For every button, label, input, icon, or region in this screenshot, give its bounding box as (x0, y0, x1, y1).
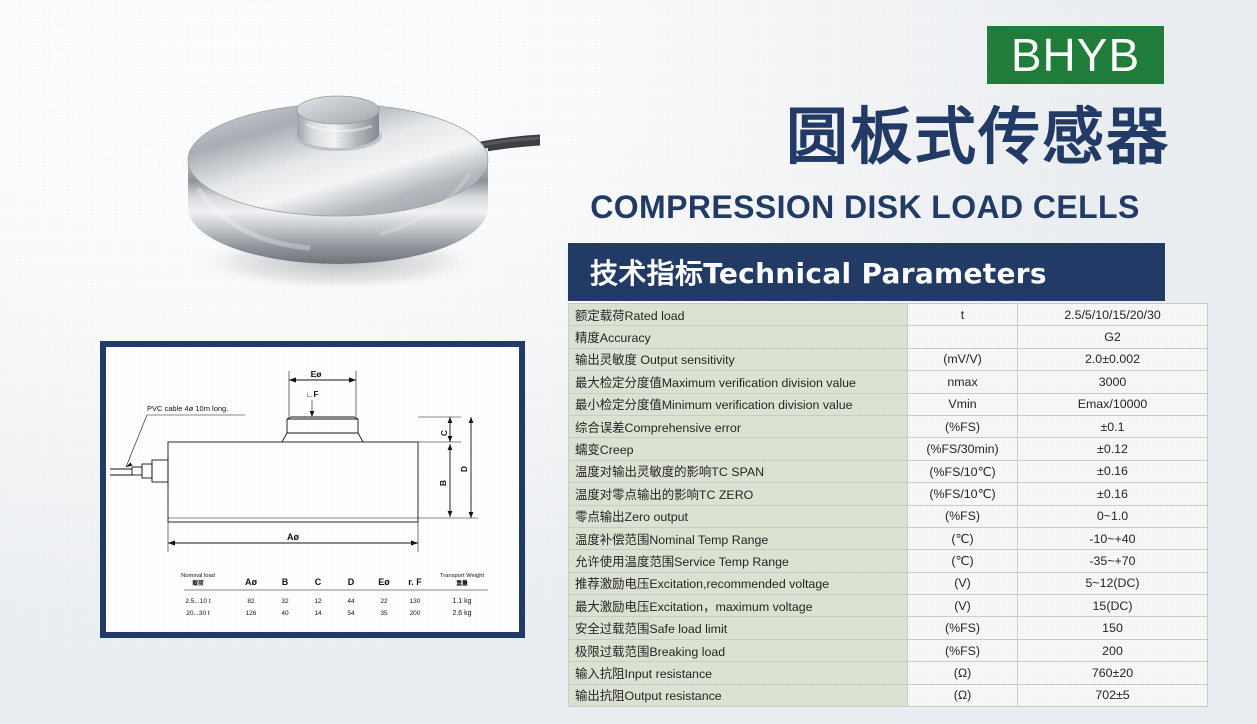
param-value: 3000 (1018, 371, 1208, 393)
param-value: ±0.1 (1018, 415, 1208, 437)
dim-col-load-line2: 载荷 (192, 579, 204, 587)
technical-parameters-table: 额定载荷Rated loadt2.5/5/10/15/20/30精度Accura… (568, 303, 1208, 707)
drawing-boss (282, 417, 363, 442)
param-value: 760±20 (1018, 662, 1208, 684)
param-unit: (℃) (908, 550, 1018, 572)
param-unit (908, 326, 1018, 348)
param-unit: (mV/V) (908, 348, 1018, 370)
param-unit: nmax (908, 371, 1018, 393)
param-name: 输出灵敏度 Output sensitivity (569, 348, 908, 370)
dim-cell-rf: 130 (410, 598, 421, 605)
dim-col-d: D (348, 577, 355, 587)
dim-label-d: D (459, 466, 469, 472)
dim-label-a: Aø (287, 532, 299, 542)
dimension-drawing: Eø ∟F (106, 347, 519, 632)
dim-cell-c: 14 (314, 610, 322, 617)
dim-cell-b: 40 (281, 610, 289, 617)
param-name: 温度对输出灵敏度的影响TC SPAN (569, 460, 908, 482)
table-row: 综合误差Comprehensive error(%FS)±0.1 (569, 415, 1208, 437)
param-unit: (%FS/10℃) (908, 483, 1018, 505)
param-unit: (%FS) (908, 415, 1018, 437)
param-name: 极限过载范围Breaking load (569, 639, 908, 661)
dim-cell-weight: 1.1 kg (452, 598, 471, 605)
param-unit: (%FS) (908, 505, 1018, 527)
table-row: 输出抗阻Output resistance(Ω)702±5 (569, 684, 1208, 706)
loading-boss (294, 96, 382, 151)
dim-cell-weight: 2.6 kg (452, 610, 471, 617)
param-unit: (Ω) (908, 684, 1018, 706)
dimension-table: Nominal load 载荷 Aø B C D Eø r. F Transpo… (181, 573, 488, 617)
dim-col-e: Eø (378, 577, 390, 587)
param-name: 最大激励电压Excitation，maximum voltage (569, 595, 908, 617)
param-unit: Vmin (908, 393, 1018, 415)
dim-a: Aø (168, 522, 418, 552)
param-value: 2.0±0.002 (1018, 348, 1208, 370)
param-value: ±0.12 (1018, 438, 1208, 460)
dim-col-load-line1: Nominal load (181, 573, 215, 579)
param-unit: (%FS/10℃) (908, 460, 1018, 482)
param-value: -35~+70 (1018, 550, 1208, 572)
param-unit: (V) (908, 595, 1018, 617)
dim-col-weight-line1: Transport Weight (440, 573, 485, 579)
param-value: 2.5/5/10/15/20/30 (1018, 304, 1208, 326)
param-value: -10~+40 (1018, 527, 1208, 549)
param-value: 702±5 (1018, 684, 1208, 706)
param-value: 5~12(DC) (1018, 572, 1208, 594)
dim-col-c: C (315, 577, 322, 587)
dim-label-e: Eø (311, 369, 323, 379)
dim-cell-load: 20...30 t (186, 610, 210, 617)
product-title-chinese: 圆板式传感器 (560, 104, 1170, 169)
param-name: 温度对零点输出的影响TC ZERO (569, 483, 908, 505)
table-row: 额定载荷Rated loadt2.5/5/10/15/20/30 (569, 304, 1208, 326)
table-row: 输出灵敏度 Output sensitivity(mV/V)2.0±0.002 (569, 348, 1208, 370)
technical-parameters-header-text: 技术指标Technical Parameters (568, 252, 1047, 292)
table-row: 温度对输出灵敏度的影响TC SPAN(%FS/10℃)±0.16 (569, 460, 1208, 482)
dim-col-weight-line2: 重量 (456, 579, 468, 587)
dim-col-a: Aø (245, 577, 257, 587)
technical-parameters-header: 技术指标Technical Parameters (568, 243, 1165, 301)
dim-cell-e: 35 (380, 610, 388, 617)
dim-table-row: 20...30 t 126 40 14 54 35 200 2.6 kg (186, 610, 471, 617)
table-row: 最大检定分度值Maximum verification division val… (569, 371, 1208, 393)
param-value: 150 (1018, 617, 1208, 639)
product-datasheet-page: BHYB 圆板式传感器 COMPRESSION DISK LOAD CELLS … (0, 0, 1257, 724)
cable-note-text: PVC cable 4ø 10m long. (147, 404, 228, 413)
dim-cell-c: 12 (314, 598, 322, 605)
dim-table-row: 2.5...10 t 82 32 12 44 22 130 1.1 kg (185, 598, 471, 605)
table-row: 零点输出Zero output(%FS)0~1.0 (569, 505, 1208, 527)
param-value: 0~1.0 (1018, 505, 1208, 527)
dim-label-b: B (438, 480, 448, 486)
table-row: 安全过载范围Safe load limit(%FS)150 (569, 617, 1208, 639)
param-name: 零点输出Zero output (569, 505, 908, 527)
param-name: 综合误差Comprehensive error (569, 415, 908, 437)
dim-b: B (438, 444, 452, 517)
table-row: 推荐激励电压Excitation,recommended voltage(V)5… (569, 572, 1208, 594)
brand-logo: BHYB (987, 26, 1164, 84)
drawing-gland (110, 460, 168, 482)
dim-cell-load: 2.5...10 t (185, 598, 210, 605)
param-name: 允许使用温度范围Service Temp Range (569, 550, 908, 572)
dim-cell-b: 32 (281, 598, 289, 605)
param-unit: (℃) (908, 527, 1018, 549)
dim-label-f: ∟F (306, 390, 319, 399)
dim-cell-a: 82 (247, 598, 255, 605)
cable-annotation: PVC cable 4ø 10m long. (126, 404, 245, 467)
dim-cell-e: 22 (380, 598, 388, 605)
product-photo (140, 48, 540, 312)
dim-e: Eø (289, 369, 356, 417)
technical-parameters-body: 额定载荷Rated loadt2.5/5/10/15/20/30精度Accura… (569, 304, 1208, 707)
param-name: 安全过载范围Safe load limit (569, 617, 908, 639)
dim-cell-a: 126 (246, 610, 257, 617)
param-value: 15(DC) (1018, 595, 1208, 617)
table-row: 输入抗阻Input resistance(Ω)760±20 (569, 662, 1208, 684)
param-name: 蠕变Creep (569, 438, 908, 460)
dim-cell-d: 54 (347, 610, 355, 617)
table-row: 极限过载范围Breaking load(%FS)200 (569, 639, 1208, 661)
dim-col-b: B (282, 577, 289, 587)
dim-col-rf: r. F (408, 577, 422, 587)
param-name: 推荐激励电压Excitation,recommended voltage (569, 572, 908, 594)
param-unit: t (908, 304, 1018, 326)
param-value: ±0.16 (1018, 460, 1208, 482)
param-unit: (Ω) (908, 662, 1018, 684)
param-value: ±0.16 (1018, 483, 1208, 505)
table-row: 精度AccuracyG2 (569, 326, 1208, 348)
param-value: 200 (1018, 639, 1208, 661)
dimension-drawing-panel: Eø ∟F (100, 341, 525, 638)
param-name: 额定载荷Rated load (569, 304, 908, 326)
dim-cell-d: 44 (347, 598, 355, 605)
param-name: 精度Accuracy (569, 326, 908, 348)
table-row: 温度对零点输出的影响TC ZERO(%FS/10℃)±0.16 (569, 483, 1208, 505)
param-name: 最大检定分度值Maximum verification division val… (569, 371, 908, 393)
dim-cell-rf: 200 (410, 610, 421, 617)
dim-f: ∟F (306, 390, 319, 417)
param-name: 输出抗阻Output resistance (569, 684, 908, 706)
param-unit: (V) (908, 572, 1018, 594)
dim-c: C (418, 417, 461, 442)
drawing-body (168, 442, 418, 522)
dim-label-c: C (439, 430, 449, 436)
table-row: 允许使用温度范围Service Temp Range(℃)-35~+70 (569, 550, 1208, 572)
param-name: 最小检定分度值Minimum verification division val… (569, 393, 908, 415)
param-unit: (%FS) (908, 639, 1018, 661)
table-row: 蠕变Creep(%FS/30min)±0.12 (569, 438, 1208, 460)
brand-logo-text: BHYB (1011, 32, 1140, 78)
param-unit: (%FS) (908, 617, 1018, 639)
product-title-english: COMPRESSION DISK LOAD CELLS (560, 190, 1170, 225)
param-value: Emax/10000 (1018, 393, 1208, 415)
load-cell-illustration (140, 48, 540, 312)
table-row: 最小检定分度值Minimum verification division val… (569, 393, 1208, 415)
param-unit: (%FS/30min) (908, 438, 1018, 460)
param-value: G2 (1018, 326, 1208, 348)
param-name: 温度补偿范围Nominal Temp Range (569, 527, 908, 549)
table-row: 温度补偿范围Nominal Temp Range(℃)-10~+40 (569, 527, 1208, 549)
table-row: 最大激励电压Excitation，maximum voltage(V)15(DC… (569, 595, 1208, 617)
param-name: 输入抗阻Input resistance (569, 662, 908, 684)
